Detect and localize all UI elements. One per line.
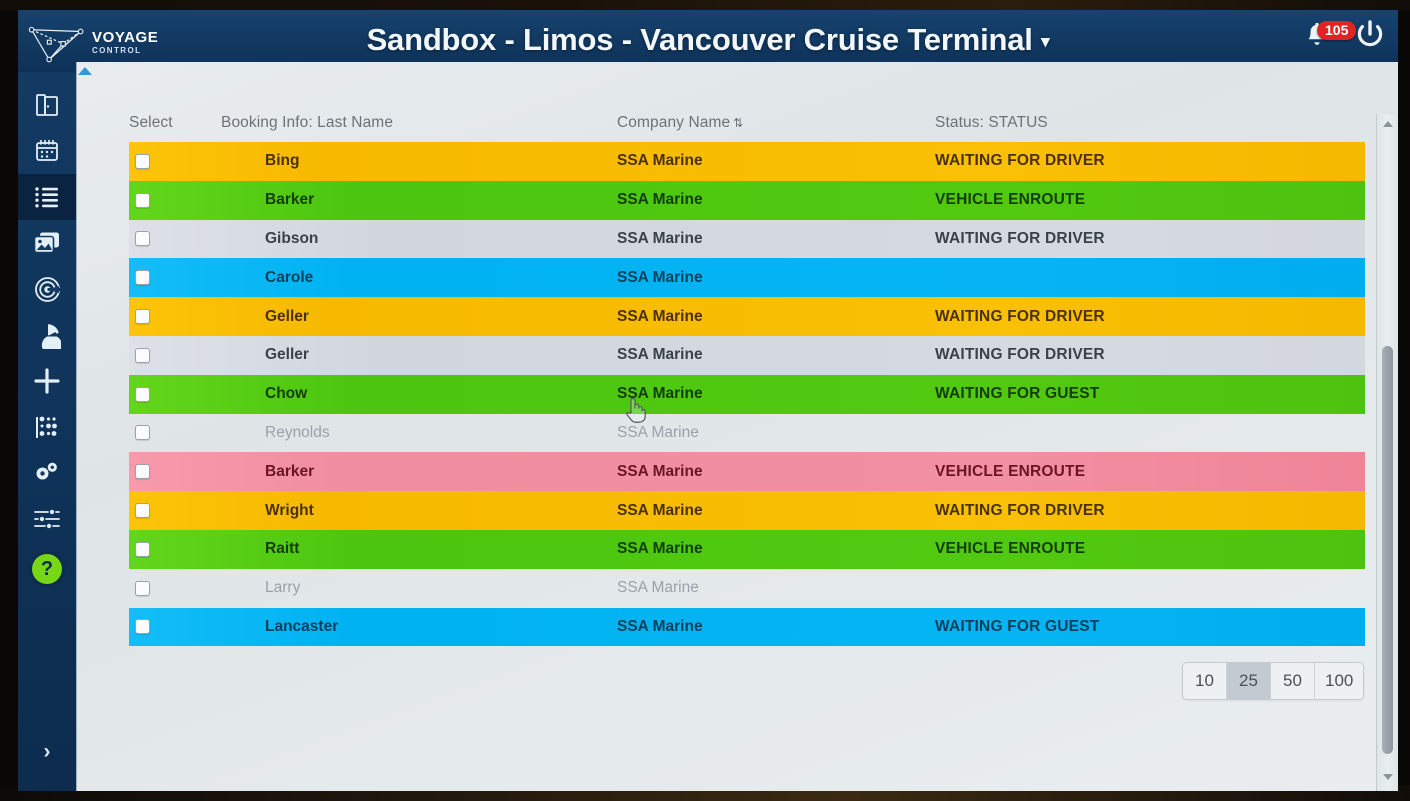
row-company-name: SSA Marine xyxy=(617,152,935,170)
row-select-cell[interactable] xyxy=(129,464,221,479)
page-size-option[interactable]: 100 xyxy=(1315,663,1363,699)
column-header-company-label: Company Name xyxy=(617,114,730,131)
scroll-down-button[interactable] xyxy=(1377,767,1398,787)
row-select-cell[interactable] xyxy=(129,503,221,518)
row-checkbox[interactable] xyxy=(135,464,150,479)
notifications-button[interactable]: 105 xyxy=(1302,21,1332,55)
grid-dots-icon xyxy=(34,415,61,440)
scroll-up-arrow-icon xyxy=(1383,121,1393,127)
table-row[interactable]: LarrySSA Marine xyxy=(129,569,1365,608)
row-status: WAITING FOR DRIVER xyxy=(935,308,1365,326)
table-row[interactable]: LancasterSSA MarineWAITING FOR GUEST xyxy=(129,608,1365,647)
bezel-top-glow xyxy=(0,0,1410,10)
row-last-name: Barker xyxy=(221,463,617,481)
scroll-up-button[interactable] xyxy=(1377,114,1398,134)
table-row[interactable]: BingSSA MarineWAITING FOR DRIVER xyxy=(129,142,1365,181)
table-row[interactable]: GibsonSSA MarineWAITING FOR DRIVER xyxy=(129,220,1365,259)
row-select-cell[interactable] xyxy=(129,387,221,402)
sidebar-item-filters[interactable] xyxy=(18,496,76,542)
chevron-down-icon: ▾ xyxy=(1041,32,1049,51)
scroll-down-arrow-icon xyxy=(1383,774,1393,780)
row-select-cell[interactable] xyxy=(129,348,221,363)
app-logo[interactable]: VOYAGE CONTROL xyxy=(26,18,206,66)
sidebar-item-gallery[interactable] xyxy=(18,220,76,266)
row-checkbox[interactable] xyxy=(135,231,150,246)
bookings-table: Select Booking Info: Last Name Company N… xyxy=(77,62,1377,791)
row-checkbox[interactable] xyxy=(135,270,150,285)
row-checkbox[interactable] xyxy=(135,425,150,440)
gears-icon xyxy=(33,461,61,485)
radar-target-icon xyxy=(34,276,61,303)
row-company-name: SSA Marine xyxy=(617,191,935,209)
notification-count-badge: 105 xyxy=(1317,21,1356,40)
table-row[interactable]: CaroleSSA Marine xyxy=(129,258,1365,297)
table-row[interactable]: BarkerSSA MarineVEHICLE ENROUTE xyxy=(129,452,1365,491)
screen-bezel: VOYAGE CONTROL Sandbox - Limos - Vancouv… xyxy=(0,0,1410,801)
row-status: VEHICLE ENROUTE xyxy=(935,463,1365,481)
row-checkbox[interactable] xyxy=(135,387,150,402)
row-company-name: SSA Marine xyxy=(617,385,935,403)
table-header-row: Select Booking Info: Last Name Company N… xyxy=(129,114,1369,144)
page-size-option[interactable]: 25 xyxy=(1227,663,1271,699)
column-header-company[interactable]: Company Name⇅ xyxy=(617,114,935,144)
row-select-cell[interactable] xyxy=(129,542,221,557)
row-last-name: Geller xyxy=(221,346,617,364)
page-size-option[interactable]: 10 xyxy=(1183,663,1227,699)
screen: VOYAGE CONTROL Sandbox - Limos - Vancouv… xyxy=(18,10,1398,791)
plus-icon xyxy=(33,367,61,395)
power-icon xyxy=(1354,18,1386,52)
row-status: WAITING FOR DRIVER xyxy=(935,502,1365,520)
sort-arrows-icon: ⇅ xyxy=(733,116,742,130)
sidebar-item-radar[interactable] xyxy=(18,266,76,312)
row-status: WAITING FOR DRIVER xyxy=(935,230,1365,248)
column-header-status[interactable]: Status: STATUS xyxy=(935,114,1365,144)
row-company-name: SSA Marine xyxy=(617,463,935,481)
row-company-name: SSA Marine xyxy=(617,579,935,597)
row-last-name: Gibson xyxy=(221,230,617,248)
sidebar-expand-button[interactable]: › xyxy=(18,735,76,769)
row-select-cell[interactable] xyxy=(129,270,221,285)
column-header-select: Select xyxy=(129,114,221,144)
row-status: WAITING FOR DRIVER xyxy=(935,346,1365,364)
row-last-name: Chow xyxy=(221,385,617,403)
table-row[interactable]: WrightSSA MarineWAITING FOR DRIVER xyxy=(129,491,1365,530)
row-last-name: Lancaster xyxy=(221,618,617,636)
left-sidebar: ? › xyxy=(18,72,76,791)
page-size-selector: 102550100 xyxy=(1182,662,1364,700)
row-select-cell[interactable] xyxy=(129,619,221,634)
voyage-network-triangle-logo-icon xyxy=(26,21,88,63)
page-size-option[interactable]: 50 xyxy=(1271,663,1315,699)
power-button[interactable] xyxy=(1354,18,1386,57)
logo-text: VOYAGE CONTROL xyxy=(92,30,158,55)
row-status: VEHICLE ENROUTE xyxy=(935,191,1365,209)
row-last-name: Wright xyxy=(221,502,617,520)
row-last-name: Geller xyxy=(221,308,617,326)
sidebar-item-reports[interactable] xyxy=(18,312,76,358)
row-select-cell[interactable] xyxy=(129,309,221,324)
row-status: WAITING FOR DRIVER xyxy=(935,152,1365,170)
pie-chart-icon xyxy=(34,322,61,349)
row-last-name: Raitt xyxy=(221,540,617,558)
chevron-right-icon: › xyxy=(44,740,51,764)
row-status: WAITING FOR GUEST xyxy=(935,385,1365,403)
calendar-icon xyxy=(34,138,60,164)
column-header-name[interactable]: Booking Info: Last Name xyxy=(221,114,617,144)
row-checkbox[interactable] xyxy=(135,193,150,208)
row-status: VEHICLE ENROUTE xyxy=(935,540,1365,558)
row-company-name: SSA Marine xyxy=(617,618,935,636)
table-row[interactable]: GellerSSA MarineWAITING FOR DRIVER xyxy=(129,336,1365,375)
table-row[interactable]: ChowSSA MarineWAITING FOR GUEST xyxy=(129,375,1365,414)
main-content-panel: Select Booking Info: Last Name Company N… xyxy=(76,62,1398,791)
row-company-name: SSA Marine xyxy=(617,502,935,520)
sidebar-item-list[interactable] xyxy=(18,174,76,220)
row-company-name: SSA Marine xyxy=(617,308,935,326)
page-title[interactable]: Sandbox - Limos - Vancouver Cruise Termi… xyxy=(18,22,1398,58)
sidebar-item-layout[interactable] xyxy=(18,404,76,450)
sidebar-item-settings[interactable] xyxy=(18,450,76,496)
row-company-name: SSA Marine xyxy=(617,269,935,287)
row-select-cell[interactable] xyxy=(129,193,221,208)
logo-primary-text: VOYAGE xyxy=(92,30,158,45)
header-actions: 105 xyxy=(1302,18,1386,57)
row-last-name: Bing xyxy=(221,152,617,170)
row-checkbox[interactable] xyxy=(135,542,150,557)
sidebar-item-calendar[interactable] xyxy=(18,128,76,174)
row-select-cell[interactable] xyxy=(129,581,221,596)
row-last-name: Carole xyxy=(221,269,617,287)
sidebar-item-help[interactable]: ? xyxy=(18,546,76,592)
row-last-name: Reynolds xyxy=(221,424,617,442)
row-checkbox[interactable] xyxy=(135,581,150,596)
row-checkbox[interactable] xyxy=(135,503,150,518)
table-body: BingSSA MarineWAITING FOR DRIVERBarkerSS… xyxy=(129,142,1365,646)
row-last-name: Larry xyxy=(221,579,617,597)
row-checkbox[interactable] xyxy=(135,619,150,634)
row-company-name: SSA Marine xyxy=(617,346,935,364)
help-button: ? xyxy=(32,554,62,584)
door-book-icon xyxy=(34,92,60,118)
sliders-icon xyxy=(33,508,61,530)
table-row[interactable]: ReynoldsSSA Marine xyxy=(129,414,1365,453)
row-company-name: SSA Marine xyxy=(617,424,935,442)
logo-secondary-text: CONTROL xyxy=(92,47,158,55)
row-checkbox[interactable] xyxy=(135,348,150,363)
sidebar-item-add[interactable] xyxy=(18,358,76,404)
list-icon xyxy=(34,186,60,208)
table-row[interactable]: RaittSSA MarineVEHICLE ENROUTE xyxy=(129,530,1365,569)
table-row[interactable]: GellerSSA MarineWAITING FOR DRIVER xyxy=(129,297,1365,336)
page-title-text: Sandbox - Limos - Vancouver Cruise Termi… xyxy=(367,22,1033,57)
row-checkbox[interactable] xyxy=(135,154,150,169)
row-company-name: SSA Marine xyxy=(617,230,935,248)
sidebar-item-gatehouse[interactable] xyxy=(18,82,76,128)
row-select-cell[interactable] xyxy=(129,425,221,440)
scrollbar-thumb[interactable] xyxy=(1382,346,1393,754)
table-row[interactable]: BarkerSSA MarineVEHICLE ENROUTE xyxy=(129,181,1365,220)
row-select-cell[interactable] xyxy=(129,154,221,169)
row-last-name: Barker xyxy=(221,191,617,209)
row-company-name: SSA Marine xyxy=(617,540,935,558)
images-icon xyxy=(33,231,61,255)
row-status: WAITING FOR GUEST xyxy=(935,618,1365,636)
row-checkbox[interactable] xyxy=(135,309,150,324)
vertical-scrollbar[interactable] xyxy=(1376,114,1398,791)
row-select-cell[interactable] xyxy=(129,231,221,246)
